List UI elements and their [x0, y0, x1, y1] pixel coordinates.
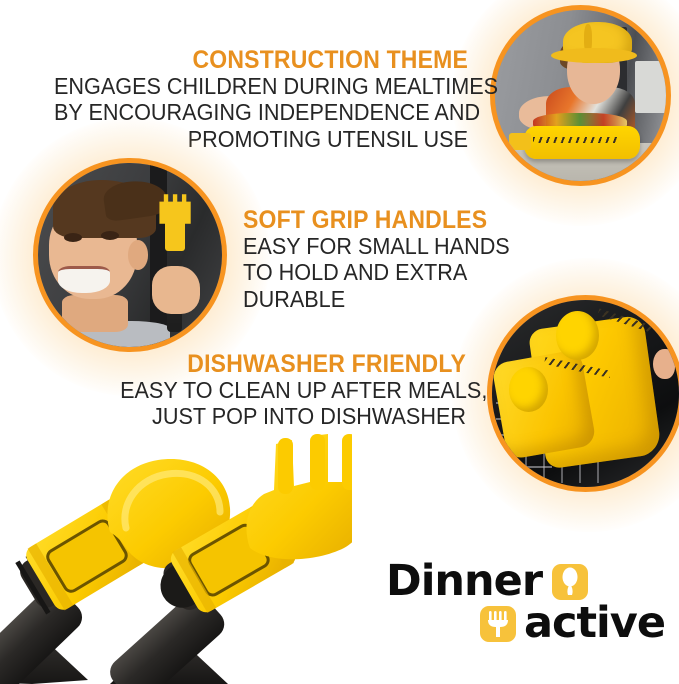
- fork-icon: [159, 194, 190, 223]
- feature-soft-grip-handles: SOFT GRIP HANDLES EASY FOR SMALL HANDS T…: [243, 208, 493, 312]
- product-shot-spoon-and-fork: [0, 432, 352, 684]
- logo-word-active: active: [524, 602, 665, 645]
- hand-thumb: [653, 349, 675, 379]
- infographic-canvas: CONSTRUCTION THEME ENGAGES CHILDREN DURI…: [0, 0, 679, 684]
- feature-body-line: JUST POP INTO DISHWASHER: [120, 403, 466, 429]
- logo-row-dinner: Dinner: [386, 560, 588, 603]
- feature-body-line: TO HOLD AND EXTRA: [243, 259, 473, 285]
- feature-body-line: DURABLE: [243, 286, 473, 312]
- feature-title: DISHWASHER FRIENDLY: [120, 352, 466, 377]
- spoon-glyph: [552, 564, 588, 600]
- child-ear: [128, 240, 148, 269]
- feature-title: CONSTRUCTION THEME: [54, 48, 468, 73]
- feature-dishwasher-friendly: DISHWASHER FRIENDLY EASY TO CLEAN UP AFT…: [90, 352, 466, 430]
- brand-logo: Dinner active: [386, 558, 668, 654]
- child-neck: [62, 295, 128, 332]
- spoon-bowl-upper: [556, 311, 599, 360]
- feature-body: EASY TO CLEAN UP AFTER MEALS, JUST POP I…: [120, 377, 466, 430]
- photo-utensils-in-dishwasher: [487, 295, 679, 492]
- product-illustration: [0, 432, 352, 684]
- feature-body-line: PROMOTING UTENSIL USE: [54, 126, 468, 152]
- photo-boy-in-hard-hat: [490, 5, 671, 186]
- plate-hazard-stripe: [533, 137, 619, 144]
- feature-body: EASY FOR SMALL HANDS TO HOLD AND EXTRA D…: [243, 233, 473, 312]
- feature-body-line: EASY TO CLEAN UP AFTER MEALS,: [120, 377, 466, 403]
- logo-word-dinner: Dinner: [386, 560, 542, 603]
- feature-construction-theme: CONSTRUCTION THEME ENGAGES CHILDREN DURI…: [18, 48, 468, 152]
- feature-body: ENGAGES CHILDREN DURING MEALTIMES BY ENC…: [54, 73, 468, 152]
- feature-body-line: EASY FOR SMALL HANDS: [243, 233, 473, 259]
- spoon-icon: [552, 564, 588, 600]
- fork-glyph: [480, 606, 516, 642]
- feature-body-line: ENGAGES CHILDREN DURING MEALTIMES: [54, 73, 468, 99]
- toy-truck: [509, 133, 531, 150]
- child-smile: [58, 266, 110, 293]
- child-hand: [152, 266, 200, 314]
- spoon-bowl-lower: [509, 367, 548, 412]
- hard-hat-brim: [551, 48, 637, 63]
- feature-body-line: BY ENCOURAGING INDEPENDENCE AND: [54, 99, 468, 125]
- kitchen-panel-light: [635, 61, 666, 112]
- fork-icon: [480, 606, 516, 642]
- fork-head: [246, 434, 352, 559]
- photo-smiling-boy-with-fork: [33, 158, 227, 352]
- feature-title: SOFT GRIP HANDLES: [243, 208, 473, 233]
- logo-row-active: active: [480, 602, 665, 645]
